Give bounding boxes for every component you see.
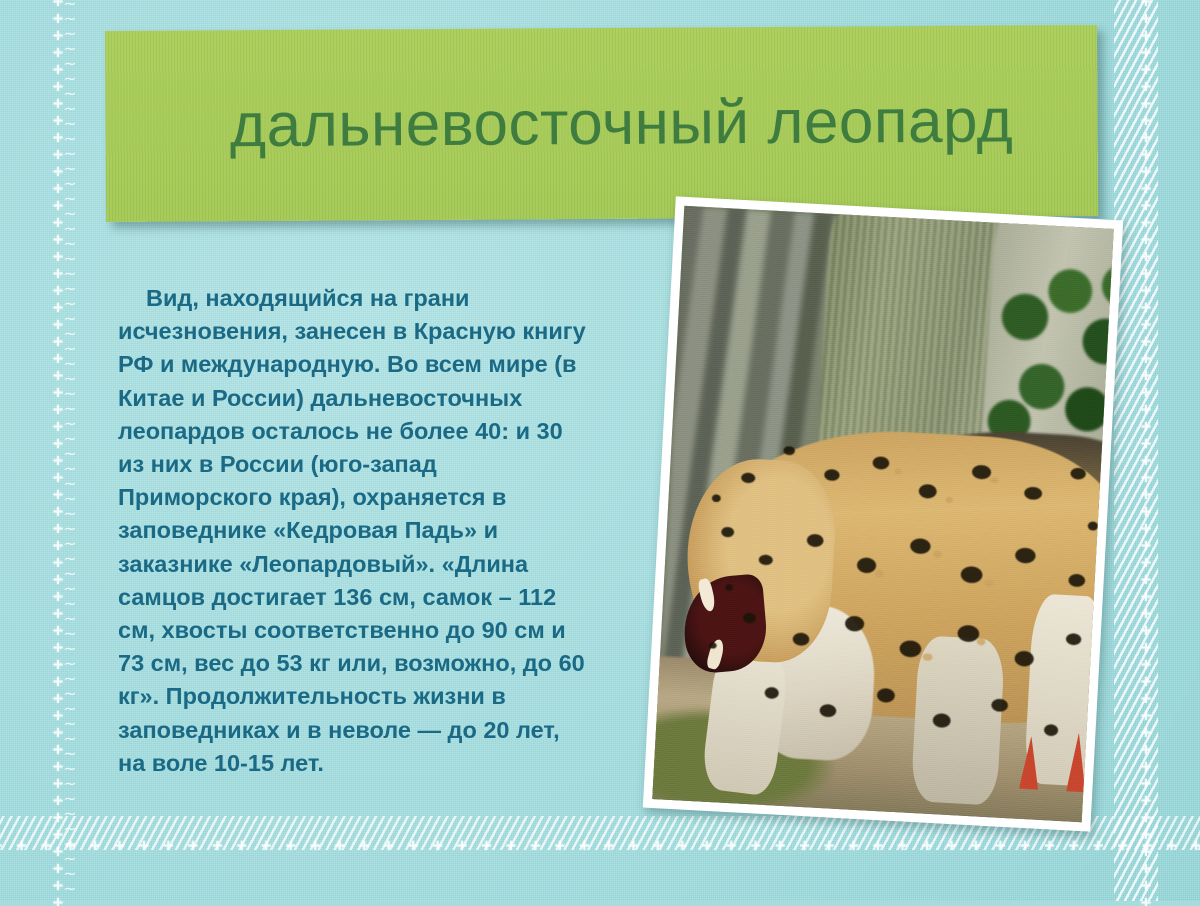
stitch-line-left-decor: + + + + + + + + + + + + + + + + + + + + …: [48, 0, 68, 906]
photo-frame: [643, 196, 1123, 831]
squiggle-line-left-decor: ~ ~ ~ ~ ~ ~ ~ ~ ~ ~ ~ ~ ~ ~ ~ ~ ~ ~ ~ ~ …: [62, 0, 78, 906]
stitch-line-bottom-decor: + + + + + + + + + + + + + + + + + + + + …: [0, 836, 1200, 856]
leopard-photo: [652, 206, 1113, 822]
body-paragraph: Вид, находящийся на грани исчезновения, …: [118, 282, 588, 780]
slide-canvas: + + + + + + + + + + + + + + + + + + + + …: [0, 0, 1200, 901]
title-banner: дальневосточный леопард: [105, 25, 1098, 222]
stitch-line-right-decor: + + + + + + + + + + + + + + + + + + + + …: [1136, 0, 1156, 906]
diagonal-hatch-right-decor: [1114, 0, 1158, 901]
photo-grain-overlay: [652, 206, 1113, 822]
page-title: дальневосточный леопард: [130, 89, 1073, 159]
